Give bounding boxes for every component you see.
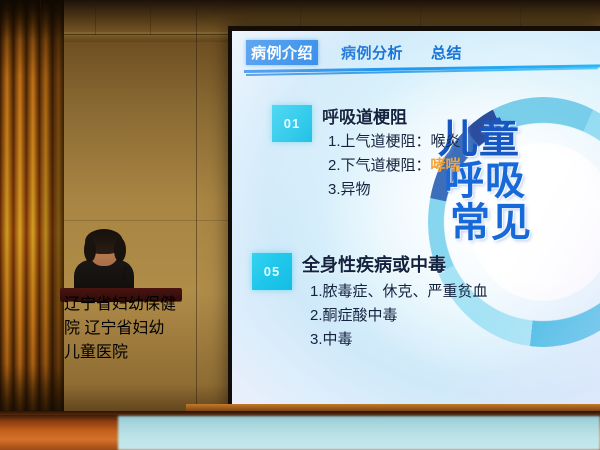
stage-curtain	[0, 0, 64, 424]
block-number-badge-01: 01	[272, 105, 312, 142]
floor-plank	[40, 0, 41, 35]
podium-org-line-2: 辽宁省妇幼儿童医院	[64, 320, 164, 361]
block-bullets-01: 1.上气道梗阻：喉炎 2.下气道梗阻：哮喘 3.异物	[328, 131, 461, 200]
speaker-hair-side-right	[114, 238, 126, 262]
curtain-top-shadow	[0, 0, 64, 40]
list-item: 3.异物	[328, 179, 461, 201]
presentation-scene: 病例介绍 病例分析 总结 儿童 呼吸 常见 01 呼吸道梗阻	[0, 0, 600, 450]
list-item: 3.中毒	[310, 329, 488, 351]
list-item: 1.上气道梗阻：喉炎	[328, 131, 461, 153]
tab-divider-rule	[244, 66, 600, 80]
tab-case-introduction[interactable]: 病例介绍	[246, 40, 318, 65]
floor-screen-reflection	[118, 416, 600, 450]
slide-tab-bar: 病例介绍 病例分析 总结	[246, 37, 586, 67]
block-title-01: 呼吸道梗阻	[322, 103, 407, 128]
floor-plank	[150, 0, 151, 35]
projection-screen: 病例介绍 病例分析 总结 儿童 呼吸 常见 01 呼吸道梗阻	[232, 31, 600, 412]
speaker-hair-side-left	[84, 238, 96, 262]
floor-plank	[95, 0, 96, 35]
podium-front-panel: 辽宁省妇幼保健院 辽宁省妇幼儿童医院	[64, 290, 178, 315]
content-block-01: 01 呼吸道梗阻 1.上气道梗阻：喉炎 2.下气道梗阻：哮喘 3.异物	[272, 105, 502, 215]
list-item: 2.酮症酸中毒	[310, 305, 488, 327]
list-item: 2.下气道梗阻：哮喘	[328, 155, 461, 177]
content-block-05: 05 全身性疾病或中毒 1.脓毒症、休克、严重贫血 2.酮症酸中毒 3.中毒	[252, 253, 522, 373]
bullet-value-highlight: 哮喘	[431, 157, 461, 174]
wall-seam	[196, 0, 197, 418]
block-title-05: 全身性疾病或中毒	[302, 251, 446, 277]
podium-org-text: 辽宁省妇幼保健院 辽宁省妇幼儿童医院	[64, 290, 178, 362]
bullet-value: 喉炎	[431, 133, 461, 150]
block-bullets-05: 1.脓毒症、休克、严重贫血 2.酮症酸中毒 3.中毒	[310, 281, 488, 350]
block-number-badge-05: 05	[252, 253, 292, 290]
tab-case-analysis[interactable]: 病例分析	[336, 40, 408, 65]
tab-summary[interactable]: 总结	[426, 40, 467, 65]
list-item: 1.脓毒症、休克、严重贫血	[310, 281, 488, 303]
